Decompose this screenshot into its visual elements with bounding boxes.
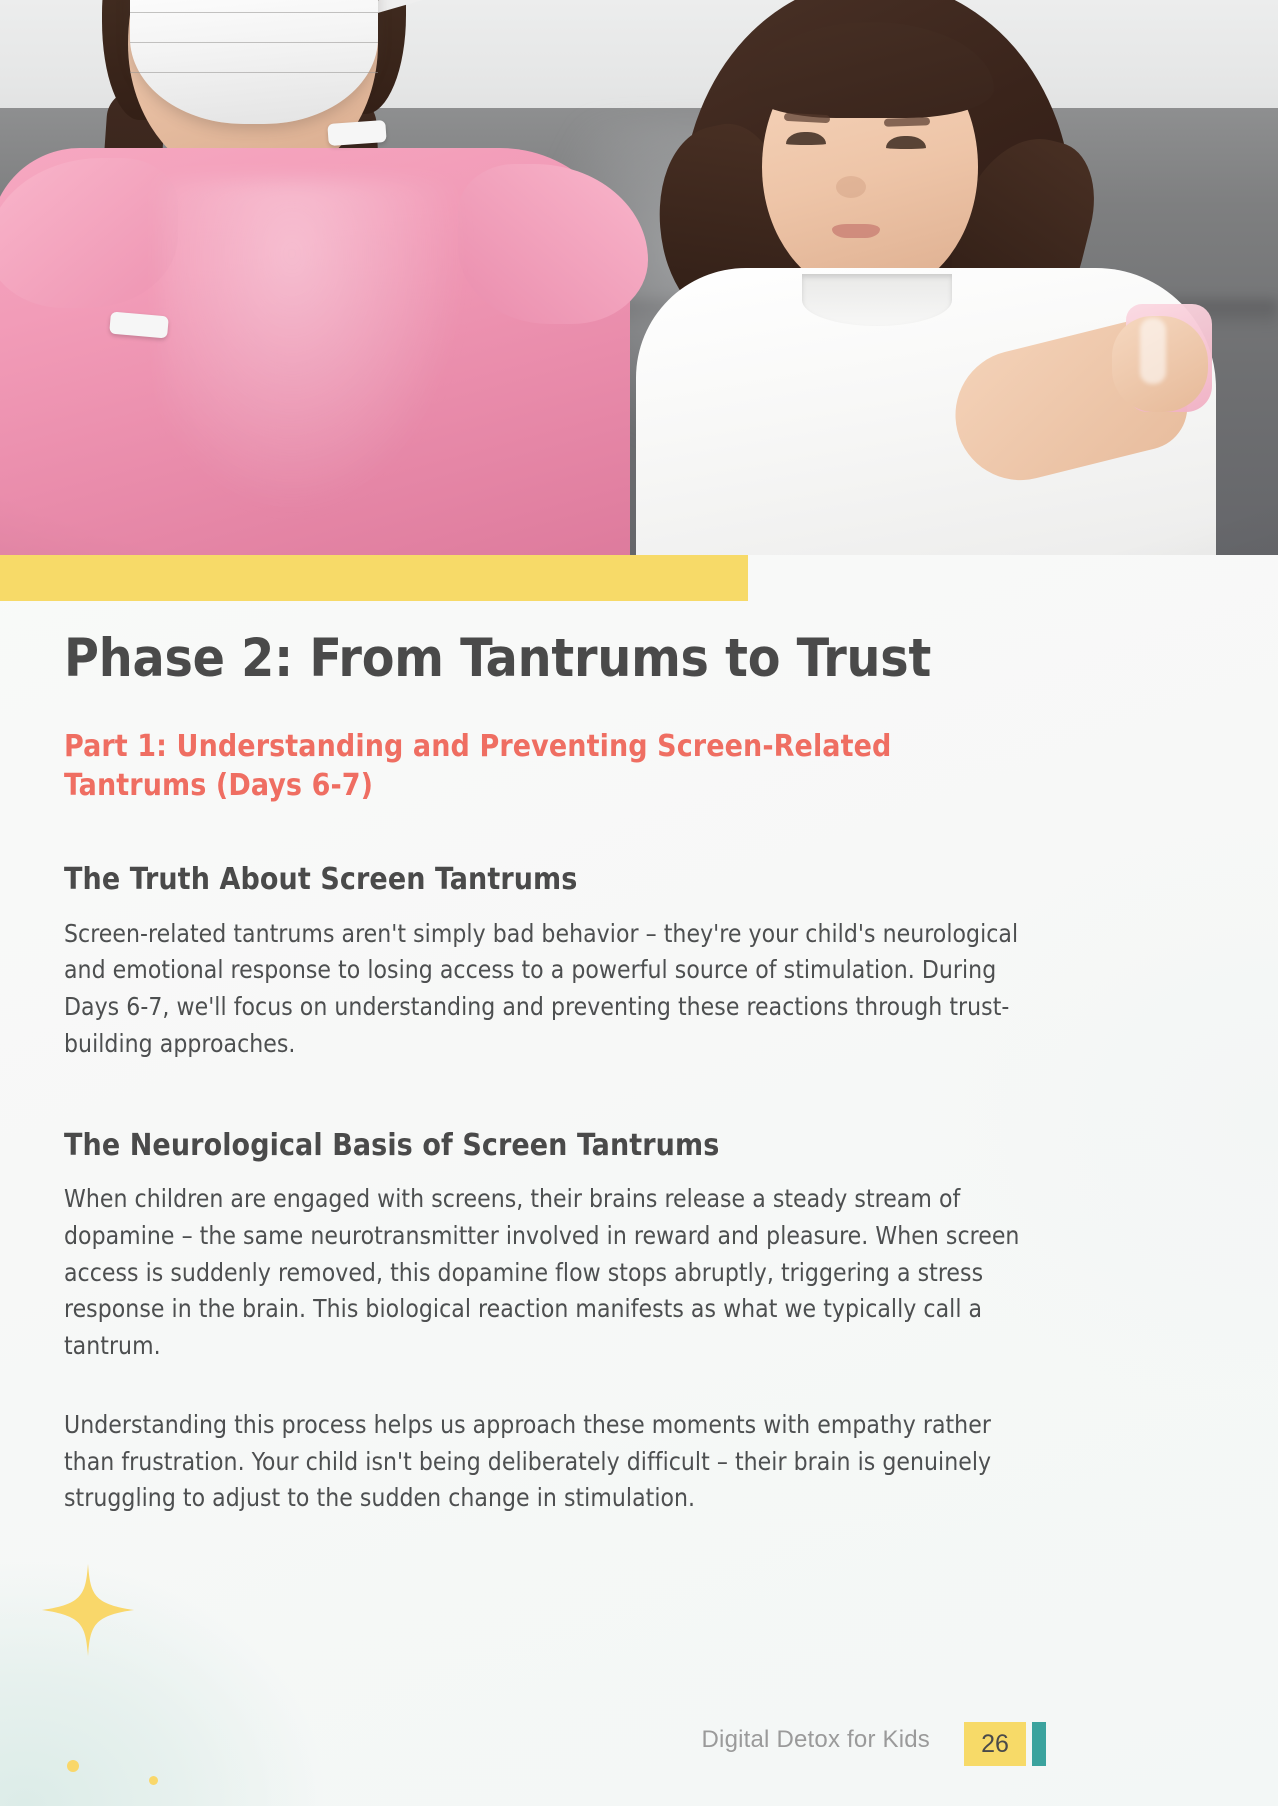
document-page: Phase 2: From Tantrums to Trust Part 1: … (0, 0, 1278, 1806)
page-number-badge: 26 (964, 1722, 1026, 1766)
footer-book-label: Digital Detox for Kids (702, 1726, 931, 1754)
hero-vignette (0, 0, 1278, 555)
page-subtitle: Part 1: Understanding and Preventing Scr… (64, 727, 954, 805)
section-paragraph: Understanding this process helps us appr… (64, 1407, 1029, 1517)
page-content: Phase 2: From Tantrums to Trust Part 1: … (64, 630, 1224, 1517)
footer-teal-bar (1032, 1722, 1046, 1766)
section-paragraph: When children are engaged with screens, … (64, 1181, 1029, 1365)
yellow-accent-bar (0, 555, 748, 601)
page-footer: Digital Detox for Kids 26 (0, 1686, 1278, 1806)
hero-photo (0, 0, 1278, 555)
page-title: Phase 2: From Tantrums to Trust (64, 630, 1224, 687)
section-paragraph: Screen-related tantrums aren't simply ba… (64, 916, 1029, 1063)
section-heading-truth-about-screen-tantrums: The Truth About Screen Tantrums (64, 861, 1224, 899)
section-heading-neurological-basis: The Neurological Basis of Screen Tantrum… (64, 1127, 1224, 1165)
four-point-sparkle-icon (40, 1562, 136, 1658)
